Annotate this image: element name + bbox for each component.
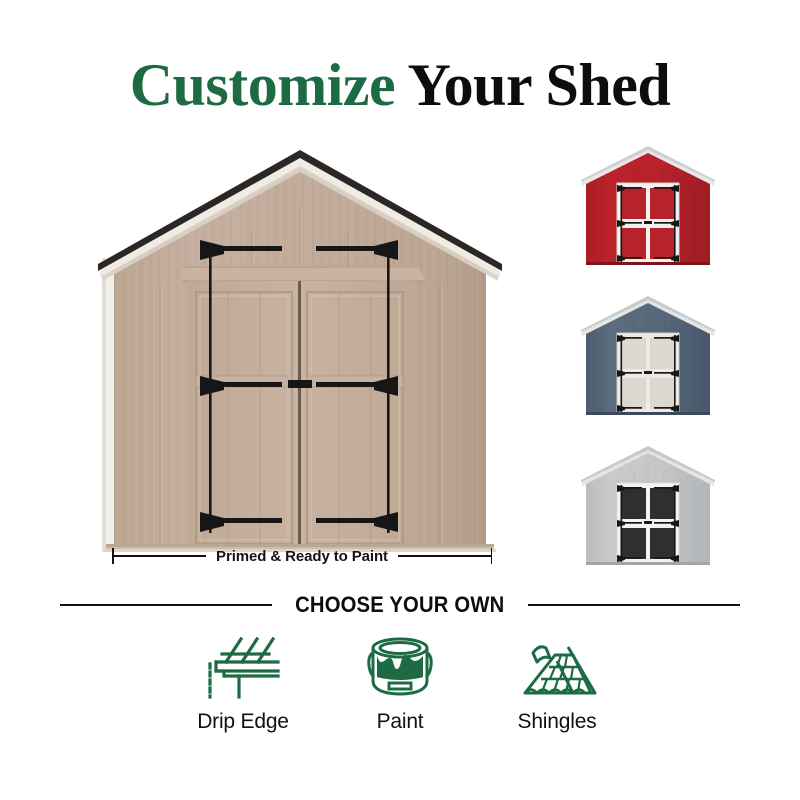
feature-label-paint: Paint [377,710,424,734]
dimension-tick-right [491,548,493,564]
shingles-icon [511,626,603,704]
dimension-rule-right [398,555,491,557]
dimension-rule-left [114,555,207,557]
choose-your-own-divider: CHOOSE YOUR OWN [60,590,740,620]
shed-color-options [572,142,724,572]
promo-graphic: Customize Your Shed [0,0,800,800]
hero-shed-image [96,140,504,552]
feature-label-drip-edge: Drip Edge [197,710,289,734]
divider-rule-left [60,604,272,606]
feature-paint[interactable]: Paint [325,626,475,734]
choose-your-own-label: CHOOSE YOUR OWN [295,592,504,618]
page-title-black: Your Shed [407,52,670,118]
feature-label-shingles: Shingles [518,710,597,734]
feature-shingles[interactable]: Shingles [482,626,632,734]
drip-edge-icon [200,626,286,704]
feature-drip-edge[interactable]: Drip Edge [168,626,318,734]
primed-caption-label: Primed & Ready to Paint [214,548,390,565]
page-title-green: Customize [130,52,395,118]
shed-color-option-red[interactable] [572,142,724,272]
shed-color-option-blue-gray[interactable] [572,292,724,422]
shed-color-option-light-gray[interactable] [572,442,724,572]
paint-can-icon [361,626,439,704]
primed-caption-dimension-line: Primed & Ready to Paint [112,545,492,567]
page-title: Customize Your Shed [0,52,800,118]
divider-rule-right [528,604,740,606]
feature-list: Drip Edge Pain [168,626,632,756]
